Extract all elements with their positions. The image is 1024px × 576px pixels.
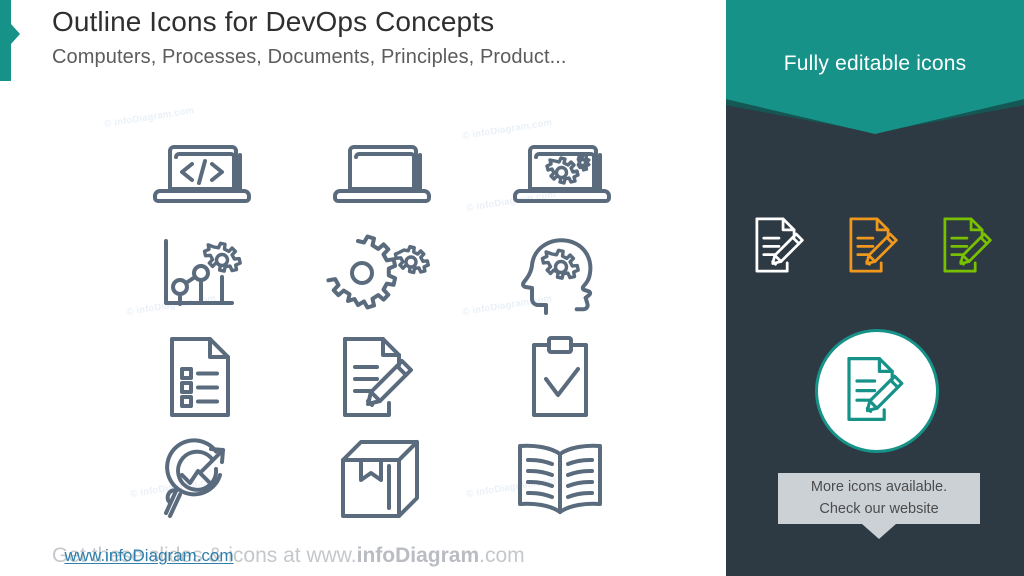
icon-cell[interactable] bbox=[110, 326, 290, 428]
left-accent-bar bbox=[0, 0, 11, 81]
footer-brand: infoDiagram bbox=[357, 544, 480, 567]
tooltip-pointer-icon bbox=[862, 524, 896, 539]
document-checklist-icon[interactable] bbox=[162, 333, 238, 421]
featured-icon-badge[interactable] bbox=[815, 329, 939, 453]
icon-grid bbox=[110, 122, 650, 532]
icon-cell[interactable] bbox=[110, 428, 290, 530]
document-pencil-teal-icon bbox=[841, 353, 913, 430]
left-accent-arrow-icon bbox=[11, 24, 20, 44]
tooltip-line-1: More icons available. bbox=[811, 478, 947, 498]
head-gear-icon[interactable] bbox=[514, 232, 606, 318]
panel-heading: Fully editable icons bbox=[726, 52, 1024, 76]
page-title: Outline Icons for DevOps Concepts bbox=[52, 6, 494, 38]
chart-gear-icon[interactable] bbox=[148, 233, 252, 317]
infodiagram-link[interactable]: www.infoDiagram.com bbox=[0, 546, 298, 566]
icon-cell[interactable] bbox=[290, 326, 470, 428]
laptop-code-icon[interactable] bbox=[148, 135, 252, 211]
magnifier-growth-icon[interactable] bbox=[154, 435, 246, 523]
gears-icon[interactable] bbox=[326, 233, 434, 317]
colour-variants-row bbox=[726, 214, 1024, 281]
icon-cell[interactable] bbox=[470, 428, 650, 530]
tooltip-line-2: Check our website bbox=[819, 500, 938, 520]
document-pencil-green-icon[interactable] bbox=[938, 214, 1000, 281]
icon-cell[interactable] bbox=[110, 122, 290, 224]
icon-cell[interactable] bbox=[290, 122, 470, 224]
more-icons-tooltip: More icons available. Check our website bbox=[778, 473, 980, 524]
document-pencil-white-icon[interactable] bbox=[750, 214, 812, 281]
open-book-icon[interactable] bbox=[510, 438, 610, 520]
clipboard-check-icon[interactable] bbox=[524, 333, 596, 421]
page-subtitle: Computers, Processes, Documents, Princip… bbox=[52, 46, 567, 69]
document-pencil-icon[interactable] bbox=[335, 333, 425, 421]
icon-cell[interactable] bbox=[290, 224, 470, 326]
laptop-gears-icon[interactable] bbox=[508, 135, 612, 211]
icon-cell[interactable] bbox=[470, 224, 650, 326]
document-pencil-orange-icon[interactable] bbox=[844, 214, 906, 281]
icon-cell[interactable] bbox=[470, 122, 650, 224]
slide-canvas: Outline Icons for DevOps Concepts Comput… bbox=[0, 0, 1024, 576]
product-box-icon[interactable] bbox=[333, 436, 427, 522]
icon-cell[interactable] bbox=[470, 326, 650, 428]
footer-suffix: .com bbox=[479, 544, 525, 567]
laptop-icon[interactable] bbox=[328, 135, 432, 211]
icon-cell[interactable] bbox=[290, 428, 470, 530]
icon-cell[interactable] bbox=[110, 224, 290, 326]
